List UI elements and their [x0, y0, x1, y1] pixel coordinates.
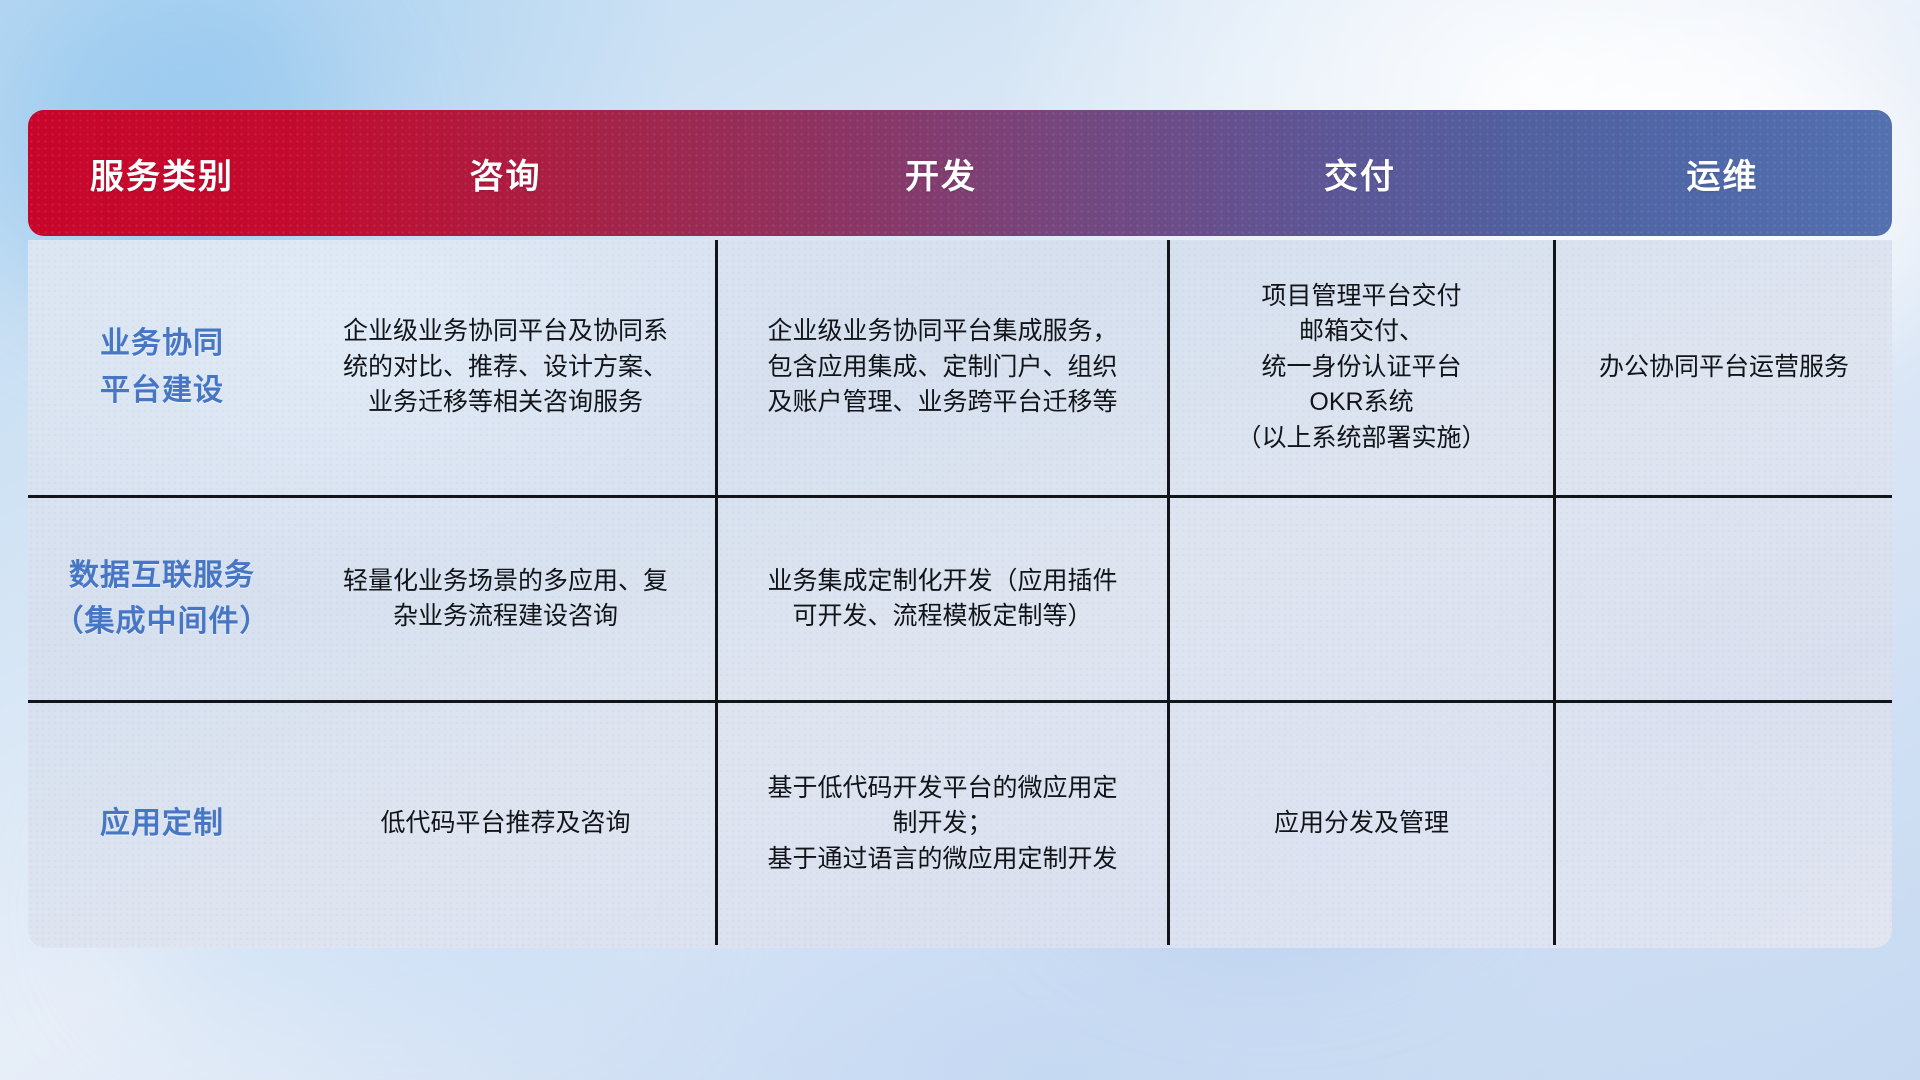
cell-delivery: 项目管理平台交付 邮箱交付、 统一身份认证平台 OKR系统 （以上系统部署实施） [1167, 240, 1553, 495]
column-header-development: 开发 [715, 110, 1167, 236]
column-header-delivery: 交付 [1167, 110, 1553, 236]
cell-consulting: 轻量化业务场景的多应用、复 杂业务流程建设咨询 [296, 498, 715, 700]
table-row: 数据互联服务 （集成中间件） 轻量化业务场景的多应用、复 杂业务流程建设咨询 业… [28, 498, 1892, 703]
cell-delivery [1167, 498, 1553, 700]
cell-development: 基于低代码开发平台的微应用定 制开发； 基于通过语言的微应用定制开发 [715, 703, 1167, 945]
table-body: 业务协同 平台建设 企业级业务协同平台及协同系 统的对比、推荐、设计方案、 业务… [28, 240, 1892, 948]
cell-development: 企业级业务协同平台集成服务， 包含应用集成、定制门户、组织 及账户管理、业务跨平… [715, 240, 1167, 495]
slide-canvas: 服务类别 咨询 开发 交付 运维 业务协同 平台建设 企业级业务协同平台及协同系… [0, 0, 1920, 1080]
cell-operations: 办公协同平台运营服务 [1553, 240, 1892, 495]
cell-development: 业务集成定制化开发（应用插件 可开发、流程模板定制等） [715, 498, 1167, 700]
table-row: 应用定制 低代码平台推荐及咨询 基于低代码开发平台的微应用定 制开发； 基于通过… [28, 703, 1892, 945]
column-header-consulting: 咨询 [296, 110, 715, 236]
column-header-category: 服务类别 [28, 110, 296, 236]
row-category-label: 业务协同 平台建设 [28, 240, 296, 495]
table-header-row: 服务类别 咨询 开发 交付 运维 [28, 110, 1892, 236]
table-row: 业务协同 平台建设 企业级业务协同平台及协同系 统的对比、推荐、设计方案、 业务… [28, 240, 1892, 498]
cell-operations [1553, 703, 1892, 945]
column-header-operations: 运维 [1553, 110, 1892, 236]
cell-delivery: 应用分发及管理 [1167, 703, 1553, 945]
row-category-label: 应用定制 [28, 703, 296, 945]
cell-consulting: 企业级业务协同平台及协同系 统的对比、推荐、设计方案、 业务迁移等相关咨询服务 [296, 240, 715, 495]
cell-operations [1553, 498, 1892, 700]
cell-consulting: 低代码平台推荐及咨询 [296, 703, 715, 945]
row-category-label: 数据互联服务 （集成中间件） [28, 498, 296, 700]
service-matrix-table: 服务类别 咨询 开发 交付 运维 业务协同 平台建设 企业级业务协同平台及协同系… [28, 110, 1892, 950]
